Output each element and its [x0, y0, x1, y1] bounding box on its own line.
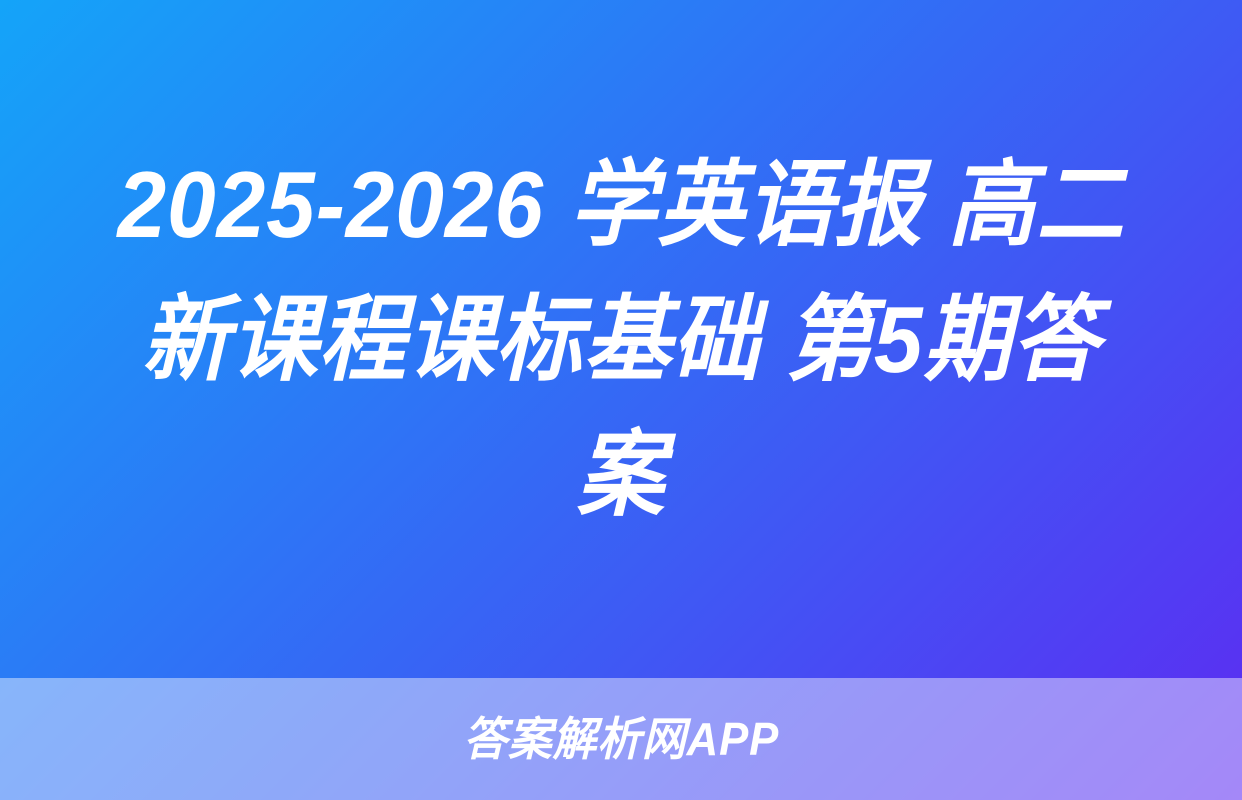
page-title: 2025-2026 学英语报 高二 新课程课标基础 第5期答案: [101, 137, 1141, 542]
app-watermark-label: 答案解析网APP: [463, 716, 779, 762]
title-area: 2025-2026 学英语报 高二 新课程课标基础 第5期答案: [0, 0, 1242, 678]
poster-canvas: 2025-2026 学英语报 高二 新课程课标基础 第5期答案 答案解析网APP: [0, 0, 1242, 800]
footer-watermark-band: 答案解析网APP: [0, 678, 1242, 800]
